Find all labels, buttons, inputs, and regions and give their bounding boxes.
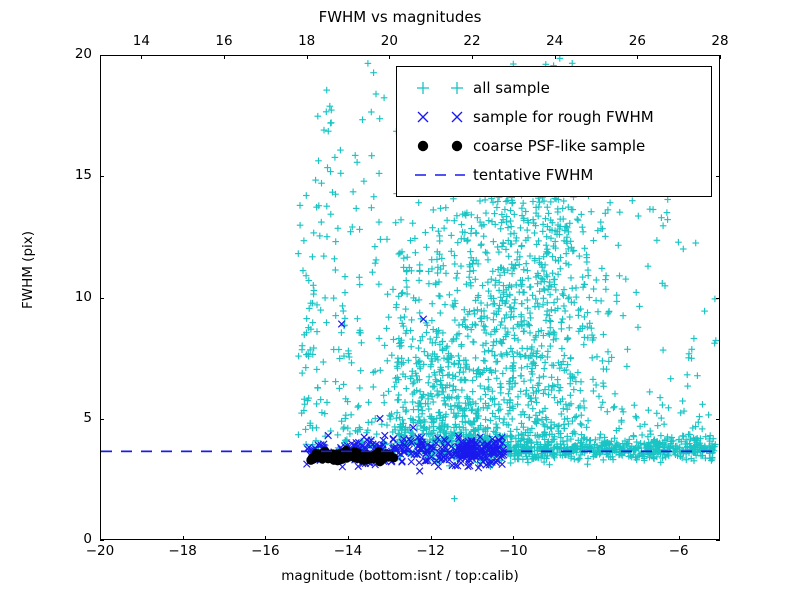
y-tick-left [100, 298, 104, 299]
legend-label: sample for rough FWHM [473, 108, 654, 126]
legend-item-psf-sample[interactable]: coarse PSF-like sample [407, 131, 701, 160]
legend-item-all-sample[interactable]: all sample [407, 73, 701, 102]
y-tick-label: 10 [36, 289, 92, 305]
y-tick-right [716, 176, 720, 177]
y-tick-left [100, 55, 104, 56]
cross-marker-icon [407, 106, 473, 128]
x-tick-label-top: 26 [607, 33, 667, 49]
x-tick-bottom [265, 536, 266, 540]
y-tick-left [100, 540, 104, 541]
x-tick-top [307, 55, 308, 59]
y-tick-right [716, 298, 720, 299]
y-tick-left [100, 419, 104, 420]
y-tick-label: 15 [36, 167, 92, 183]
y-tick-label: 20 [36, 46, 92, 62]
legend-item-rough-fwhm[interactable]: sample for rough FWHM [407, 102, 701, 131]
legend-label: tentative FWHM [473, 166, 593, 184]
y-tick-right [716, 540, 720, 541]
legend-label: coarse PSF-like sample [473, 137, 645, 155]
x-tick-top [389, 55, 390, 59]
plus-marker-icon [407, 77, 473, 99]
y-tick-label: 5 [36, 410, 92, 426]
x-tick-label-bottom: −16 [235, 543, 295, 559]
dashed-line-icon [407, 164, 473, 186]
x-axis-label: magnitude (bottom:isnt / top:calib) [0, 568, 800, 584]
page-title: FWHM vs magnitudes [0, 8, 800, 26]
dot-marker-icon [407, 135, 473, 157]
x-tick-bottom [596, 536, 597, 540]
x-tick-label-bottom: −14 [318, 543, 378, 559]
x-tick-label-top: 18 [277, 33, 337, 49]
figure-canvas: FWHM vs magnitudes −20−18−16−14−12−10−8−… [0, 0, 800, 600]
x-tick-label-bottom: −10 [483, 543, 543, 559]
x-tick-label-top: 22 [442, 33, 502, 49]
x-tick-label-top: 20 [359, 33, 419, 49]
legend-label: all sample [473, 79, 550, 97]
x-tick-top [141, 55, 142, 59]
x-tick-top [472, 55, 473, 59]
y-tick-right [716, 55, 720, 56]
x-tick-bottom [183, 536, 184, 540]
legend[interactable]: all sample sample for rough FWHM c [396, 66, 712, 197]
x-tick-top [720, 55, 721, 59]
x-tick-label-bottom: −12 [401, 543, 461, 559]
x-tick-top [555, 55, 556, 59]
x-tick-label-top: 28 [690, 33, 750, 49]
legend-item-tentative-fwhm[interactable]: tentative FWHM [407, 160, 701, 189]
x-tick-top [637, 55, 638, 59]
x-tick-label-top: 14 [111, 33, 171, 49]
x-tick-bottom [348, 536, 349, 540]
y-tick-left [100, 176, 104, 177]
x-tick-bottom [431, 536, 432, 540]
x-tick-top [224, 55, 225, 59]
x-tick-label-top: 16 [194, 33, 254, 49]
x-tick-label-bottom: −8 [566, 543, 626, 559]
x-tick-label-bottom: −18 [153, 543, 213, 559]
x-tick-label-bottom: −6 [649, 543, 709, 559]
x-tick-label-top: 24 [525, 33, 585, 49]
x-tick-bottom [513, 536, 514, 540]
y-axis-label: FWHM (pix) [20, 180, 36, 360]
y-tick-label: 0 [36, 531, 92, 547]
y-tick-right [716, 419, 720, 420]
x-tick-bottom [679, 536, 680, 540]
